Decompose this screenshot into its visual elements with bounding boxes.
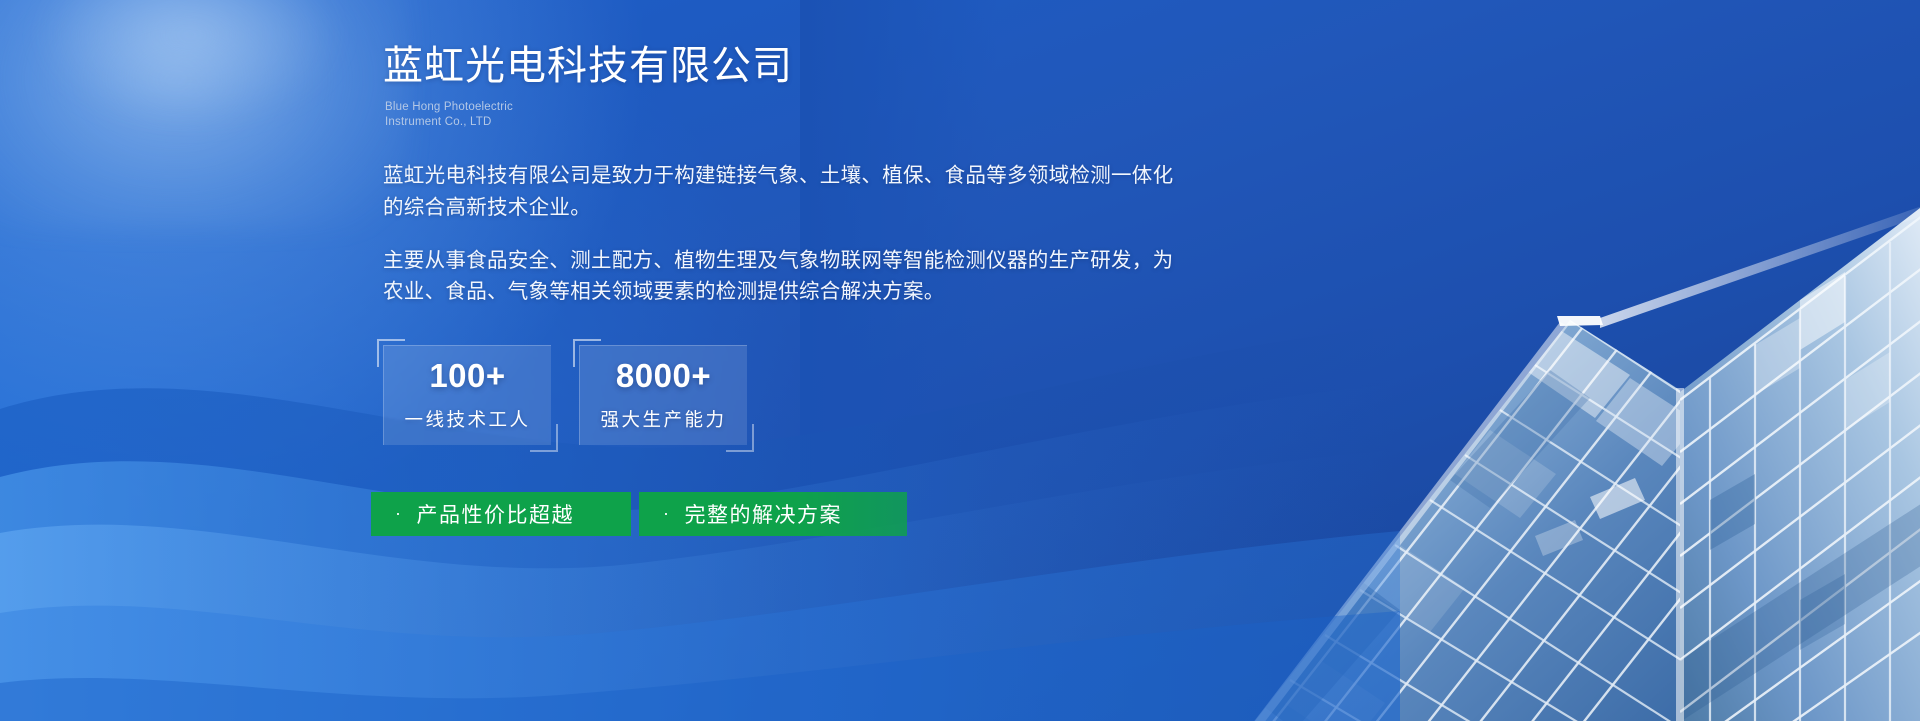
company-description-paragraph-1: 蓝虹光电科技有限公司是致力于构建链接气象、土壤、植保、食品等多领域检测一体化的综…: [383, 160, 1183, 222]
stat-value: 8000+: [616, 359, 711, 392]
feature-pill-complete-solution[interactable]: · 完整的解决方案: [639, 492, 907, 536]
feature-pill-price-advantage[interactable]: · 产品性价比超越: [371, 492, 631, 536]
bullet-dot-icon: ·: [663, 504, 671, 522]
stat-label: 强大生产能力: [600, 406, 726, 432]
feature-pill-group: · 产品性价比超越 · 完整的解决方案: [371, 492, 907, 536]
cloud-wisp-secondary-decoration: [30, 0, 350, 130]
hero-content: 蓝虹光电科技有限公司 Blue Hong Photoelectric Instr…: [383, 0, 1283, 445]
company-description-paragraph-2: 主要从事食品安全、测土配方、植物生理及气象物联网等智能检测仪器的生产研发，为农业…: [383, 245, 1188, 307]
stat-label: 一线技术工人: [404, 406, 530, 432]
bullet-dot-icon: ·: [395, 504, 403, 522]
company-title-cn: 蓝虹光电科技有限公司: [383, 0, 1283, 90]
company-title-en-line2: Instrument Co., LTD: [385, 115, 1283, 130]
company-title-en: Blue Hong Photoelectric Instrument Co., …: [385, 100, 1283, 130]
stat-card-group: 100+ 一线技术工人 8000+ 强大生产能力: [383, 345, 1283, 445]
company-title-en-line1: Blue Hong Photoelectric: [385, 100, 1283, 115]
feature-pill-label: 完整的解决方案: [685, 499, 843, 529]
stat-card: 8000+ 强大生产能力: [579, 345, 747, 445]
stat-value: 100+: [429, 359, 505, 392]
company-hero-banner: 蓝虹光电科技有限公司 Blue Hong Photoelectric Instr…: [0, 0, 1920, 721]
feature-pill-label: 产品性价比超越: [417, 499, 575, 529]
stat-card: 100+ 一线技术工人: [383, 345, 551, 445]
